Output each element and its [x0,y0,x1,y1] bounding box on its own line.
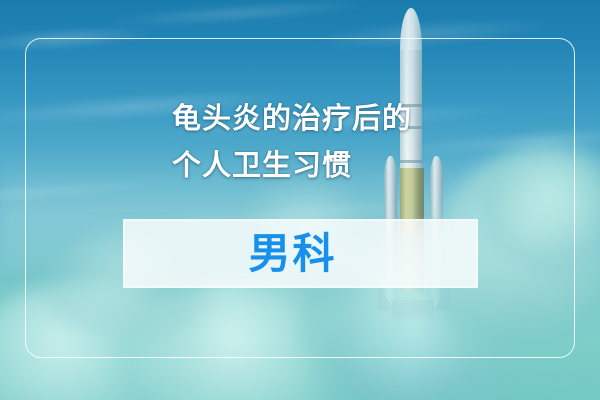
card-title-line-2: 个人卫生习惯 [172,143,572,190]
card-title-line-1: 龟头炎的治疗后的 [172,96,572,143]
card-title: 龟头炎的治疗后的 个人卫生习惯 [172,96,572,190]
category-badge-label: 男科 [248,233,336,275]
color-tint-overlay [0,0,600,400]
promo-card: 龟头炎的治疗后的 个人卫生习惯 男科 [0,0,600,400]
category-badge[interactable]: 男科 [123,219,478,288]
